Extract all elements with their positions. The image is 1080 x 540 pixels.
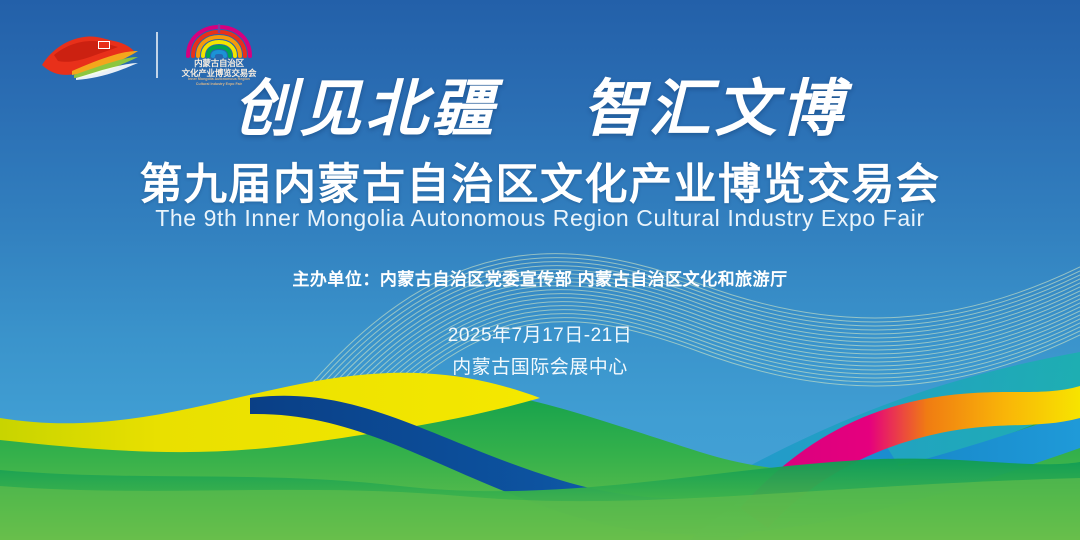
calligraphy-part1: 创见北疆	[233, 72, 497, 145]
expo-promotional-banner: 内蒙古自治区 文化产业博览交易会 Inner Mongolia Autonomo…	[0, 0, 1080, 540]
page-title-chinese: 第九届内蒙古自治区文化产业博览交易会	[0, 150, 1080, 212]
calligraphy-part2: 智汇文博	[583, 72, 847, 145]
page-title-english: The 9th Inner Mongolia Autonomous Region…	[0, 205, 1080, 232]
calligraphy-slogan: 创见北疆 智汇文博	[0, 58, 1080, 148]
event-venue: 内蒙古国际会展中心	[0, 352, 1080, 379]
organizers-line: 主办单位：内蒙古自治区党委宣传部 内蒙古自治区文化和旅游厅	[0, 265, 1080, 290]
event-date: 2025年7月17日-21日	[0, 320, 1080, 347]
